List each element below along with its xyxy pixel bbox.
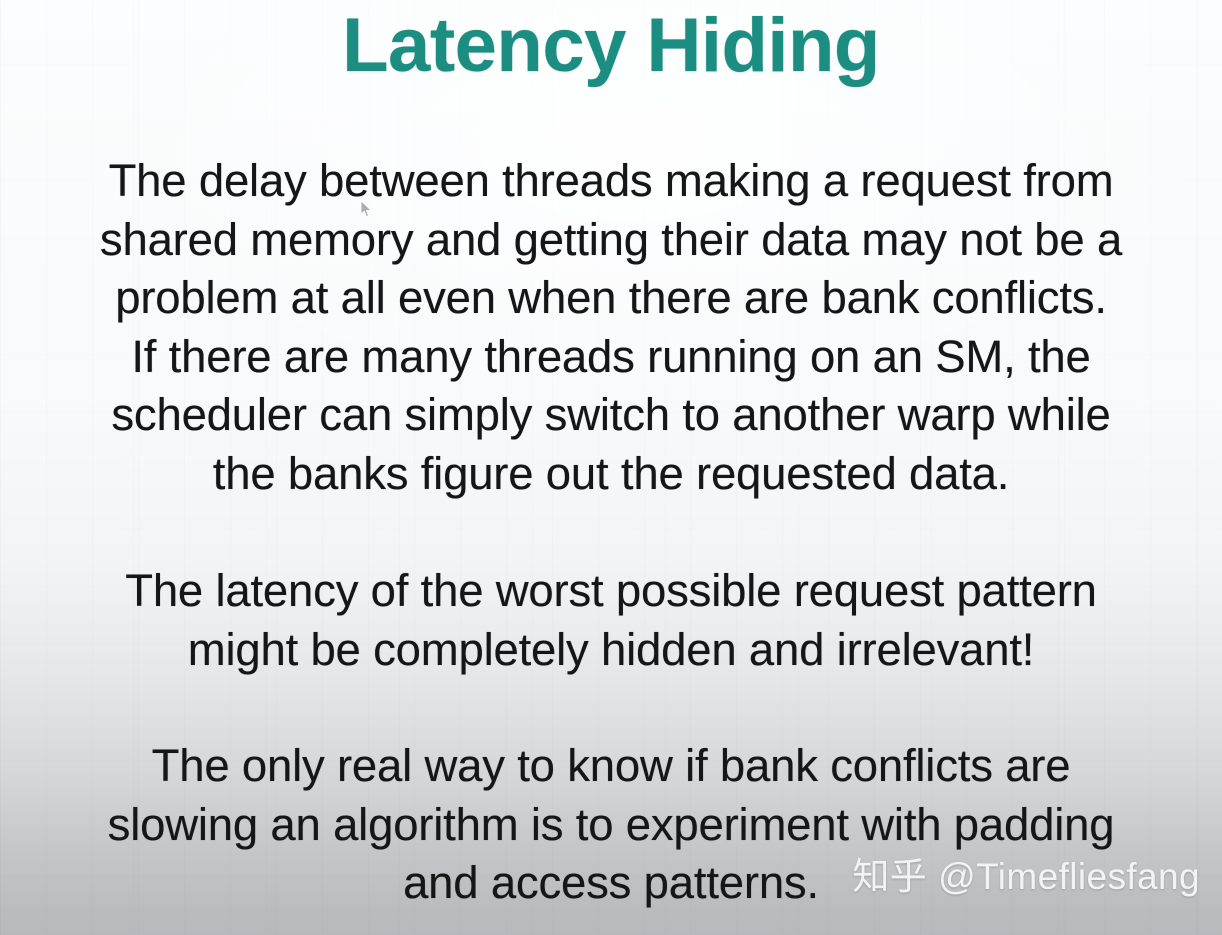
slide-canvas: Latency Hiding The delay between threads… — [0, 0, 1222, 935]
zhihu-logo-text: 知乎 — [852, 855, 927, 899]
text-line: might be completely hidden and irrelevan… — [16, 621, 1206, 680]
text-line: scheduler can simply switch to another w… — [8, 386, 1214, 445]
text-line: The latency of the worst possible reques… — [16, 562, 1206, 621]
watermark: 知乎 @Timefliesfang — [852, 855, 1200, 899]
text-line: If there are many threads running on an … — [8, 328, 1214, 387]
page-title: Latency Hiding — [0, 0, 1222, 94]
slide-body: The delay between threads making a reque… — [0, 152, 1222, 913]
mouse-pointer-icon — [360, 200, 373, 218]
paragraph-1: The delay between threads making a reque… — [0, 152, 1222, 503]
text-line: slowing an algorithm is to experiment wi… — [4, 796, 1218, 855]
text-line: the banks figure out the requested data. — [8, 445, 1214, 504]
text-line: The delay between threads making a reque… — [8, 152, 1214, 211]
text-line: problem at all even when there are bank … — [8, 269, 1214, 328]
text-line: The only real way to know if bank confli… — [4, 737, 1218, 796]
watermark-handle: @Timefliesfang — [938, 855, 1200, 899]
text-line: shared memory and getting their data may… — [8, 211, 1214, 270]
paragraph-2: The latency of the worst possible reques… — [0, 562, 1222, 679]
